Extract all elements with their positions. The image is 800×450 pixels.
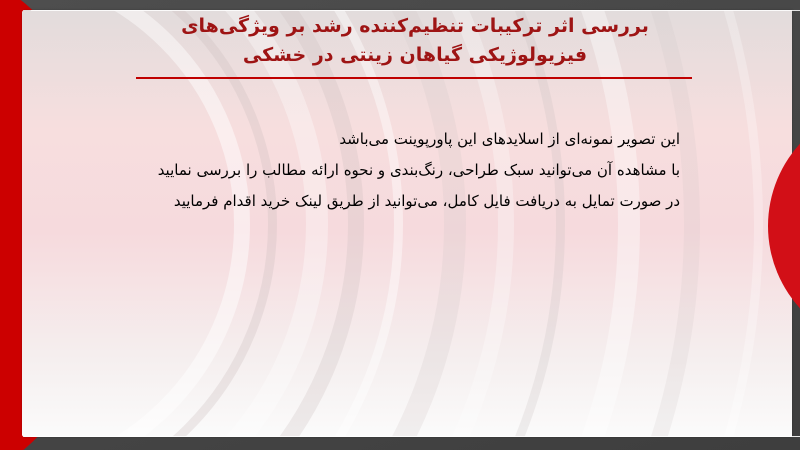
presentation-slide: بررسی اثر ترکیبات تنظیم‌کننده رشد بر ویژ… <box>0 0 800 450</box>
background-arc <box>22 10 792 437</box>
slide-content-panel <box>22 10 792 437</box>
background-arc-stripes <box>22 10 792 437</box>
